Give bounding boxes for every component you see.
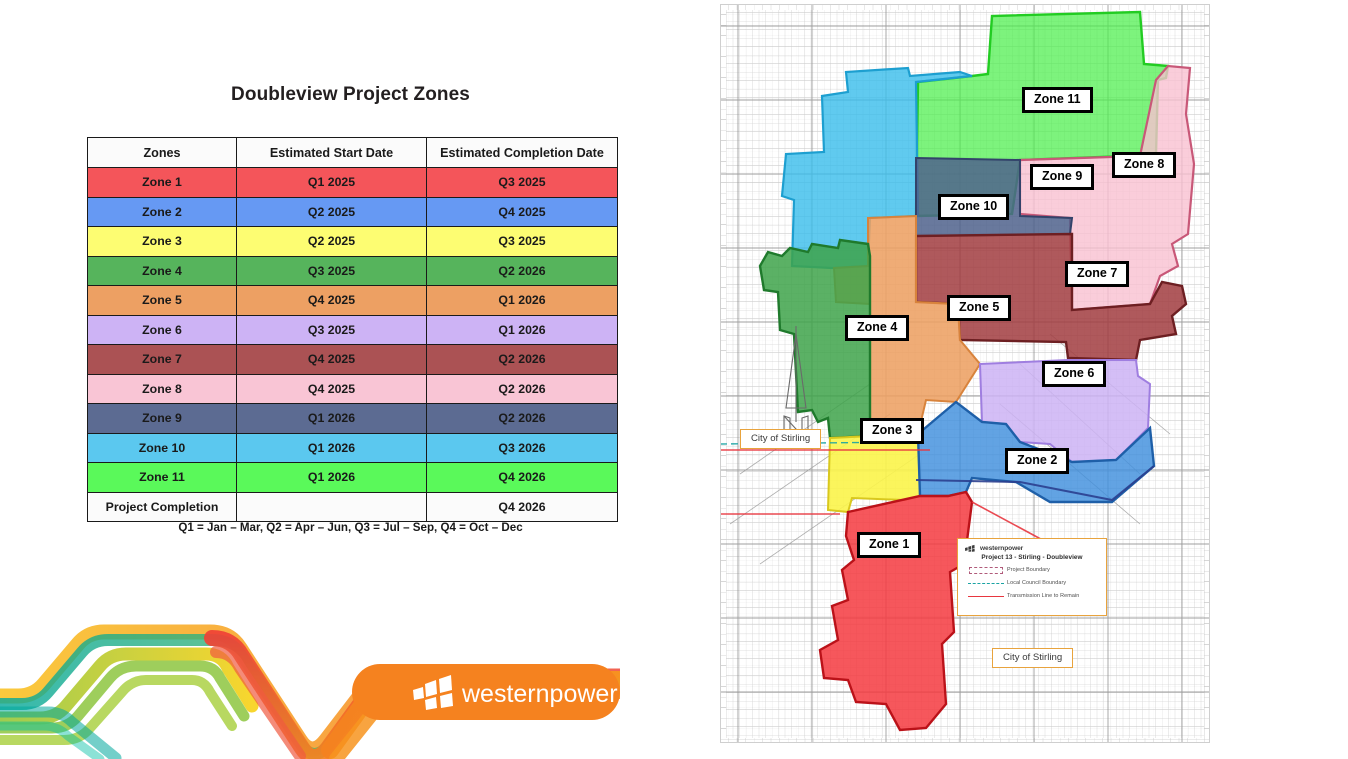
- cell-end: Q4 2026: [427, 492, 618, 522]
- table-header-row: Zones Estimated Start Date Estimated Com…: [88, 138, 618, 168]
- project-zone-map: Zone 11Zone 8Zone 9Zone 10Zone 7Zone 5Zo…: [720, 4, 1210, 743]
- table-row: Zone 1Q1 2025Q3 2025: [88, 168, 618, 198]
- cell-zone: Zone 1: [88, 168, 237, 198]
- logo-wordmark: westernpower: [461, 680, 618, 708]
- cell-start: Q3 2025: [237, 315, 427, 345]
- cell-start: [237, 492, 427, 522]
- cell-end: Q3 2025: [427, 168, 618, 198]
- cell-start: Q1 2026: [237, 463, 427, 493]
- cell-zone: Zone 3: [88, 227, 237, 257]
- cell-zone: Zone 7: [88, 345, 237, 375]
- cell-start: Q4 2025: [237, 374, 427, 404]
- left-panel: Doubleview Project Zones Zones Estimated…: [0, 0, 700, 759]
- cell-end: Q3 2026: [427, 433, 618, 463]
- council-boundary-label: City of Stirling: [992, 648, 1073, 668]
- westernpower-mark-icon: [965, 544, 977, 552]
- table-row: Zone 8Q4 2025Q2 2026: [88, 374, 618, 404]
- table-row: Zone 9Q1 2026Q2 2026: [88, 404, 618, 434]
- table-row: Zone 2Q2 2025Q4 2025: [88, 197, 618, 227]
- logo-swoosh-svg: westernpower: [0, 600, 620, 759]
- table-row: Zone 6Q3 2025Q1 2026: [88, 315, 618, 345]
- cell-end: Q2 2026: [427, 374, 618, 404]
- quarter-legend-footnote: Q1 = Jan – Mar, Q2 = Apr – Jun, Q3 = Jul…: [87, 521, 614, 534]
- cell-start: Q2 2025: [237, 197, 427, 227]
- cell-start: Q3 2025: [237, 256, 427, 286]
- table-row: Zone 5Q4 2025Q1 2026: [88, 286, 618, 316]
- map-zone-label: Zone 7: [1065, 261, 1129, 287]
- table-row: Zone 7Q4 2025Q2 2026: [88, 345, 618, 375]
- table-row: Zone 3Q2 2025Q3 2025: [88, 227, 618, 257]
- westernpower-logo-artwork: westernpower: [0, 600, 620, 759]
- cell-start: Q4 2025: [237, 286, 427, 316]
- table-row: Zone 4Q3 2025Q2 2026: [88, 256, 618, 286]
- legend-item-council-boundary: Local Council Boundary: [965, 579, 1099, 587]
- column-header-end: Estimated Completion Date: [427, 138, 618, 168]
- cell-start: Q1 2026: [237, 404, 427, 434]
- legend-title: Project 13 - Stirling - Doubleview: [965, 554, 1099, 561]
- cell-zone: Zone 9: [88, 404, 237, 434]
- legend-key-project-boundary: [965, 566, 1007, 574]
- page-title: Doubleview Project Zones: [87, 84, 614, 106]
- legend-key-council-boundary: [965, 579, 1007, 587]
- slide-root: Doubleview Project Zones Zones Estimated…: [0, 0, 1348, 759]
- cell-end: Q4 2025: [427, 197, 618, 227]
- table-row: Zone 10Q1 2026Q3 2026: [88, 433, 618, 463]
- legend-label-transmission-line: Transmission Line to Remain: [1007, 593, 1079, 599]
- map-legend: westernpower Project 13 - Stirling - Dou…: [957, 538, 1107, 616]
- cell-end: Q4 2026: [427, 463, 618, 493]
- table-row: Project CompletionQ4 2026: [88, 492, 618, 522]
- cell-end: Q1 2026: [427, 286, 618, 316]
- column-header-zones: Zones: [88, 138, 237, 168]
- map-zone-label: Zone 2: [1005, 448, 1069, 474]
- cell-zone: Zone 10: [88, 433, 237, 463]
- legend-key-transmission-line: [965, 592, 1007, 600]
- map-graphic: [720, 4, 1210, 743]
- cell-zone: Zone 8: [88, 374, 237, 404]
- map-zone-label: Zone 6: [1042, 361, 1106, 387]
- column-header-start: Estimated Start Date: [237, 138, 427, 168]
- map-zone-label: Zone 8: [1112, 152, 1176, 178]
- cell-end: Q3 2025: [427, 227, 618, 257]
- cell-start: Q1 2026: [237, 433, 427, 463]
- map-zone-label: Zone 4: [845, 315, 909, 341]
- cell-zone: Zone 4: [88, 256, 237, 286]
- legend-label-council-boundary: Local Council Boundary: [1007, 580, 1066, 586]
- map-zone-label: Zone 3: [860, 418, 924, 444]
- legend-brand: westernpower: [965, 544, 1099, 552]
- cell-zone: Zone 5: [88, 286, 237, 316]
- map-zone-label: Zone 11: [1022, 87, 1093, 113]
- legend-item-transmission-line: Transmission Line to Remain: [965, 592, 1099, 600]
- table-body: Zone 1Q1 2025Q3 2025Zone 2Q2 2025Q4 2025…: [88, 168, 618, 522]
- map-zone-label: Zone 5: [947, 295, 1011, 321]
- table-row: Zone 11Q1 2026Q4 2026: [88, 463, 618, 493]
- cell-end: Q2 2026: [427, 256, 618, 286]
- legend-brand-text: westernpower: [980, 545, 1023, 552]
- cell-start: Q4 2025: [237, 345, 427, 375]
- map-zone-label: Zone 10: [938, 194, 1009, 220]
- map-zone-label: Zone 9: [1030, 164, 1094, 190]
- legend-label-project-boundary: Project Boundary: [1007, 567, 1050, 573]
- cell-end: Q2 2026: [427, 404, 618, 434]
- council-boundary-label: City of Stirling: [740, 429, 821, 449]
- map-zone-label: Zone 1: [857, 532, 921, 558]
- cell-start: Q2 2025: [237, 227, 427, 257]
- cell-zone: Zone 6: [88, 315, 237, 345]
- zones-schedule-table: Zones Estimated Start Date Estimated Com…: [87, 137, 618, 522]
- cell-zone: Zone 11: [88, 463, 237, 493]
- cell-start: Q1 2025: [237, 168, 427, 198]
- cell-zone: Project Completion: [88, 492, 237, 522]
- cell-zone: Zone 2: [88, 197, 237, 227]
- legend-item-project-boundary: Project Boundary: [965, 566, 1099, 574]
- cell-end: Q2 2026: [427, 345, 618, 375]
- cell-end: Q1 2026: [427, 315, 618, 345]
